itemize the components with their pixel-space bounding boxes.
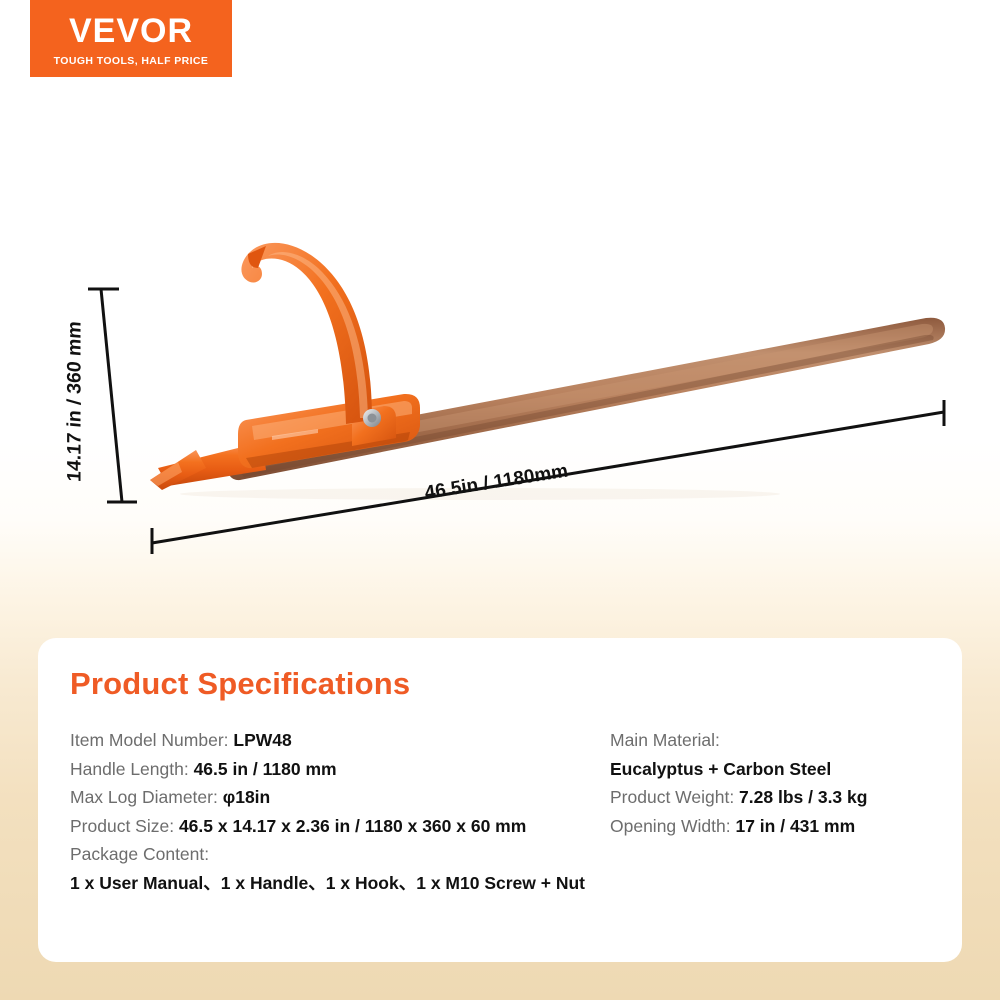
spec-opening-width: Opening Width: 17 in / 431 mm (610, 812, 930, 841)
spec-label: Product Size: (70, 816, 179, 836)
spec-value: LPW48 (233, 730, 291, 750)
spec-value: 17 in / 431 mm (735, 816, 855, 836)
spec-label: Product Weight: (610, 787, 739, 807)
spec-product-weight: Product Weight: 7.28 lbs / 3.3 kg (610, 783, 930, 812)
product-listing-page: VEVOR TOUGH TOOLS, HALF PRICE (0, 0, 1000, 1000)
spec-max-log-diameter: Max Log Diameter: φ18in (70, 783, 610, 812)
spec-label: Main Material: (610, 730, 720, 750)
spec-handle-length: Handle Length: 46.5 in / 1180 mm (70, 755, 610, 784)
spec-value: 46.5 in / 1180 mm (194, 759, 337, 779)
product-specifications-card: Product Specifications Item Model Number… (38, 638, 962, 962)
spec-column-right: Main Material: Eucalyptus + Carbon Steel… (610, 726, 930, 897)
spec-columns: Item Model Number: LPW48 Handle Length: … (70, 726, 930, 897)
spec-column-left: Item Model Number: LPW48 Handle Length: … (70, 726, 610, 897)
spec-value: 46.5 x 14.17 x 2.36 in / 1180 x 360 x 60… (179, 816, 526, 836)
spec-label: Handle Length: (70, 759, 194, 779)
spec-label: Package Content: (70, 844, 209, 864)
spec-label: Max Log Diameter: (70, 787, 223, 807)
spec-main-material-label: Main Material: (610, 726, 930, 755)
spec-package-content-label: Package Content: (70, 840, 610, 869)
spec-label: Opening Width: (610, 816, 735, 836)
spec-card-title: Product Specifications (70, 666, 410, 702)
spec-package-content-value: 1 x User Manual、1 x Handle、1 x Hook、1 x … (70, 869, 610, 898)
spec-value: φ18in (223, 787, 271, 807)
spec-item-model-number: Item Model Number: LPW48 (70, 726, 610, 755)
spec-value: 7.28 lbs / 3.3 kg (739, 787, 867, 807)
spec-product-size: Product Size: 46.5 x 14.17 x 2.36 in / 1… (70, 812, 610, 841)
length-dimension (0, 0, 1000, 620)
spec-main-material-value: Eucalyptus + Carbon Steel (610, 755, 930, 784)
spec-label: Item Model Number: (70, 730, 233, 750)
